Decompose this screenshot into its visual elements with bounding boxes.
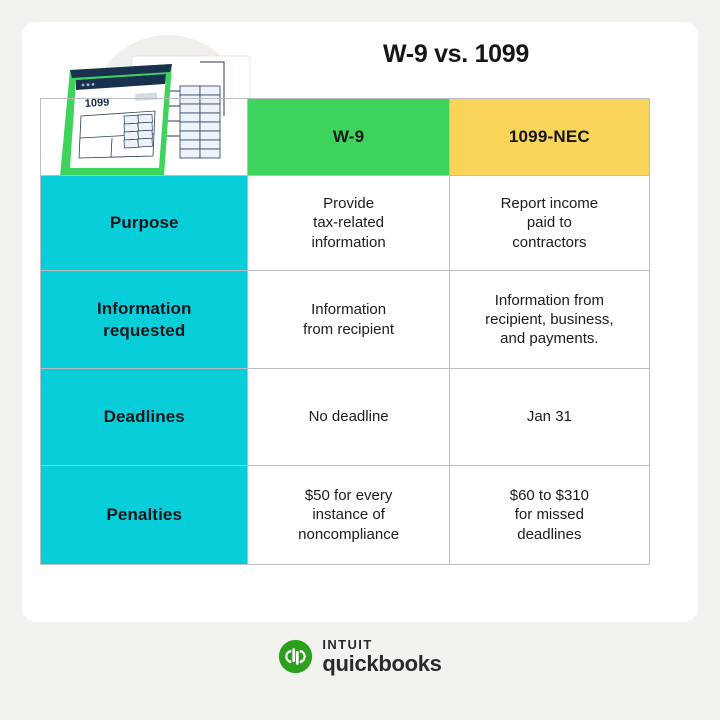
- table-header-row: W-9 1099-NEC: [41, 99, 650, 176]
- cell-information-w9: Informationfrom recipient: [248, 271, 449, 369]
- header-1099nec: 1099-NEC: [449, 99, 649, 176]
- logo-intuit-text: INTUIT: [322, 638, 441, 651]
- quickbooks-qb-mark-icon: [278, 639, 313, 674]
- logo-wordmark: INTUIT quickbooks: [322, 638, 441, 675]
- cell-deadlines-w9: No deadline: [248, 369, 449, 466]
- intuit-quickbooks-logo: INTUIT quickbooks: [0, 638, 720, 675]
- row-label-penalties: Penalties: [41, 466, 248, 565]
- cell-purpose-w9: Providetax-relatedinformation: [248, 176, 449, 271]
- cell-deadlines-nec: Jan 31: [449, 369, 649, 466]
- row-label-deadlines: Deadlines: [41, 369, 248, 466]
- cell-purpose-nec: Report incomepaid tocontractors: [449, 176, 649, 271]
- cell-penalties-nec: $60 to $310for misseddeadlines: [449, 466, 649, 565]
- header-w9: W-9: [248, 99, 449, 176]
- table-row: Purpose Providetax-relatedinformation Re…: [41, 176, 650, 271]
- table-row: Informationrequested Informationfrom rec…: [41, 271, 650, 369]
- page-title: W-9 vs. 1099: [262, 40, 650, 69]
- logo-quickbooks-text: quickbooks: [322, 653, 441, 675]
- table-row: Deadlines No deadline Jan 31: [41, 369, 650, 466]
- row-label-information-requested: Informationrequested: [41, 271, 248, 369]
- cell-information-nec: Information fromrecipient, business,and …: [449, 271, 649, 369]
- table-row: Penalties $50 for everyinstance ofnoncom…: [41, 466, 650, 565]
- header-blank-cell: [41, 99, 248, 176]
- comparison-table: W-9 1099-NEC Purpose Providetax-relatedi…: [40, 98, 650, 565]
- row-label-purpose: Purpose: [41, 176, 248, 271]
- cell-penalties-w9: $50 for everyinstance ofnoncompliance: [248, 466, 449, 565]
